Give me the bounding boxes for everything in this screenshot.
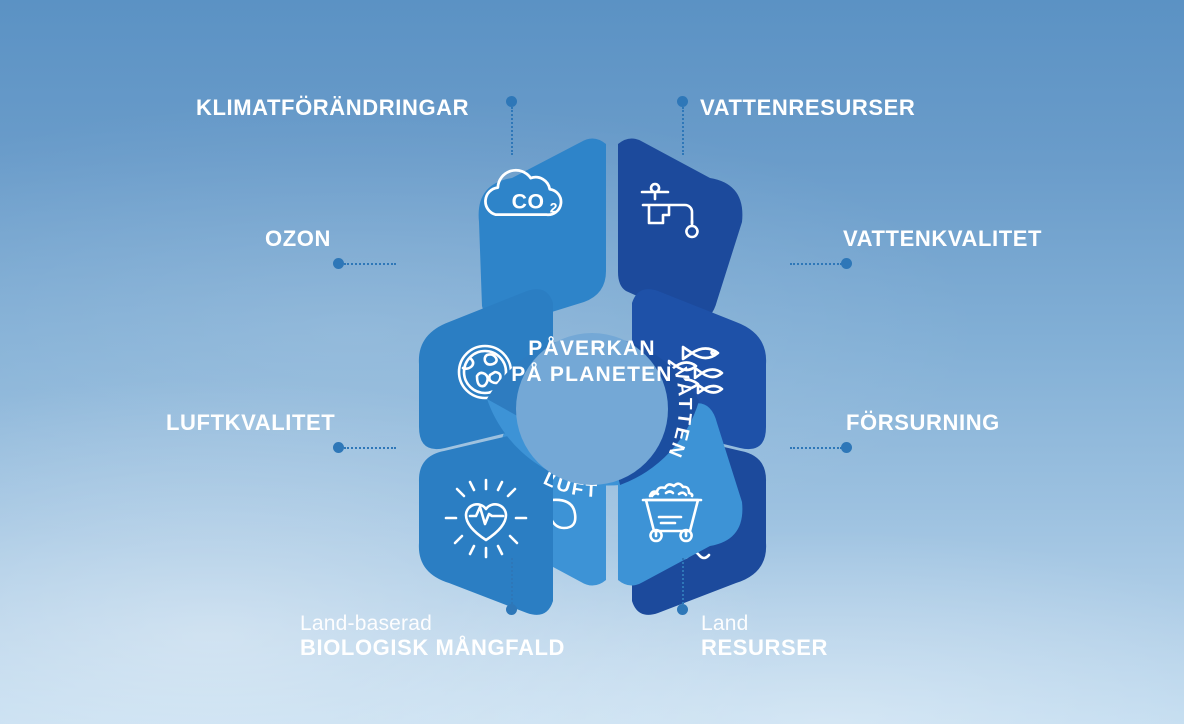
label-biologisk-mangfald: Land-baserad BIOLOGISK MÅNGFALD	[300, 612, 565, 661]
impact-wheel: CO 2	[332, 106, 852, 618]
label-biologisk-mangfald-sublabel: Land-baserad	[300, 612, 565, 636]
connector-dot-forsurning	[841, 442, 852, 453]
label-klimatforandringar: KLIMATFÖRÄNDRINGAR	[196, 96, 469, 121]
connector-line-luftkvalitet	[344, 447, 396, 449]
connector-line-klimatforandringar	[511, 107, 513, 155]
label-vattenkvalitet-text: VATTENKVALITET	[843, 227, 1042, 252]
svg-text:2: 2	[550, 201, 558, 216]
svg-text:CO: CO	[512, 190, 545, 213]
label-landresurser-sublabel: Land	[701, 612, 828, 636]
label-landresurser: Land RESURSER	[701, 612, 828, 661]
center-hub	[516, 333, 668, 485]
segment-vattenresurser-shape[interactable]	[618, 138, 742, 320]
connector-dot-luftkvalitet	[333, 442, 344, 453]
label-klimatforandringar-text: KLIMATFÖRÄNDRINGAR	[196, 96, 469, 121]
connector-dot-landresurser	[677, 604, 688, 615]
label-biologisk-mangfald-text: BIOLOGISK MÅNGFALD	[300, 636, 565, 661]
segment-vattenresurser[interactable]	[618, 138, 742, 320]
connector-line-vattenkvalitet	[790, 263, 842, 265]
connector-dot-vattenresurser	[677, 96, 688, 107]
label-ozon-text: OZON	[265, 227, 331, 252]
connector-line-forsurning	[790, 447, 842, 449]
connector-line-vattenresurser	[682, 107, 684, 155]
infographic-canvas: CO 2	[0, 0, 1184, 724]
label-luftkvalitet: LUFTKVALITET	[166, 411, 335, 436]
label-ozon: OZON	[265, 227, 331, 252]
label-luftkvalitet-text: LUFTKVALITET	[166, 411, 335, 436]
label-vattenresurser-text: VATTENRESURSER	[700, 96, 915, 121]
label-landresurser-text: RESURSER	[701, 636, 828, 661]
label-forsurning: FÖRSURNING	[846, 411, 1000, 436]
connector-dot-ozon	[333, 258, 344, 269]
connector-line-landresurser	[682, 558, 684, 604]
connector-dot-klimatforandringar	[506, 96, 517, 107]
label-vattenresurser: VATTENRESURSER	[700, 96, 915, 121]
label-vattenkvalitet: VATTENKVALITET	[843, 227, 1042, 252]
connector-line-ozon	[344, 263, 396, 265]
connector-dot-vattenkvalitet	[841, 258, 852, 269]
connector-line-biologisk-mangfald	[511, 558, 513, 604]
label-forsurning-text: FÖRSURNING	[846, 411, 1000, 436]
